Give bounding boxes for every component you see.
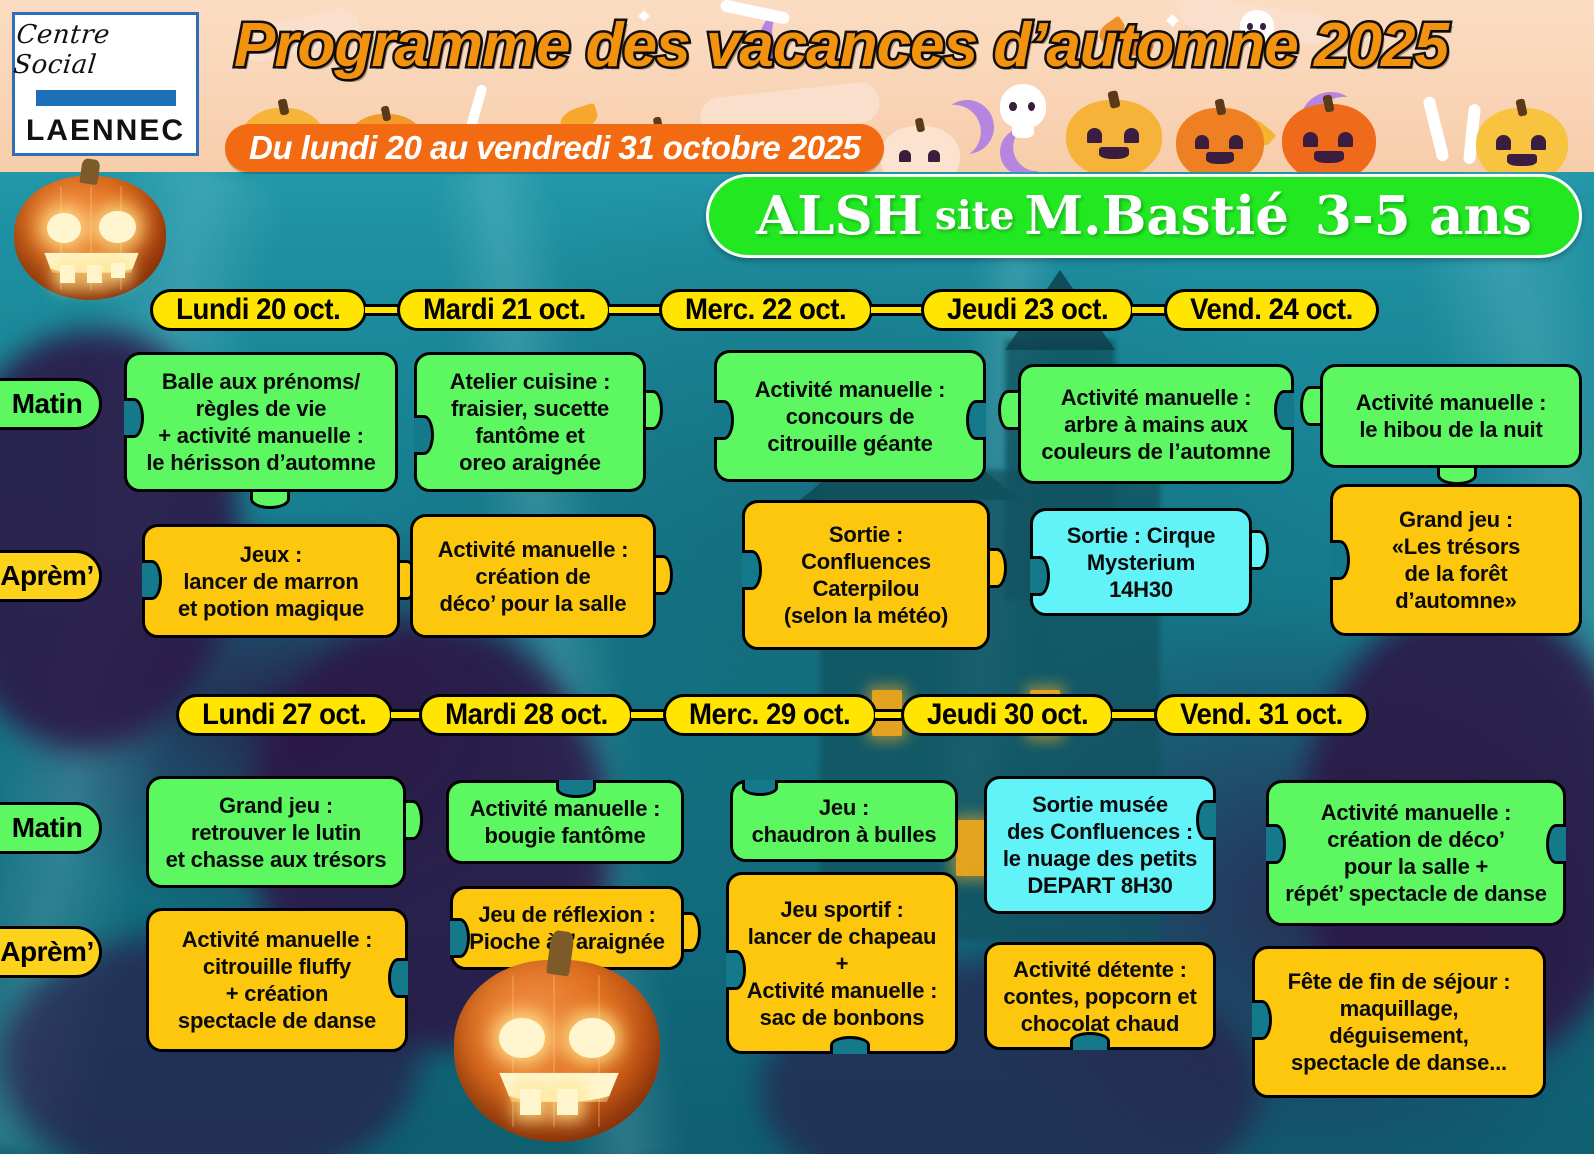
puzzle-notch bbox=[1330, 540, 1350, 580]
jack-o-lantern-photo-bottom bbox=[454, 960, 660, 1142]
row-label-text: Aprèm’ bbox=[0, 936, 93, 968]
day-header-merc-29[interactable]: Merc. 29 oct. bbox=[663, 694, 876, 736]
skull-decor bbox=[1000, 84, 1046, 128]
day-header-mardi-21[interactable]: Mardi 21 oct. bbox=[397, 289, 612, 331]
puzzle-notch bbox=[726, 950, 746, 990]
activity-card-lundi20-aprem[interactable]: Jeux : lancer de marron et potion magiqu… bbox=[142, 524, 400, 638]
day-label: Merc. 29 oct. bbox=[689, 698, 850, 732]
puzzle-notch bbox=[830, 1036, 870, 1054]
cartoon-pumpkin bbox=[1476, 108, 1568, 172]
cartoon-pumpkin bbox=[1176, 108, 1264, 172]
activity-card-jeudi30-matin[interactable]: Sortie musée des Confluences : le nuage … bbox=[984, 776, 1216, 914]
activity-card-merc29-aprem[interactable]: Jeu sportif : lancer de chapeau + Activi… bbox=[726, 872, 958, 1054]
activity-text: Sortie : Confluences Caterpilou (selon l… bbox=[784, 521, 948, 629]
puzzle-notch bbox=[742, 780, 778, 796]
activity-card-vend24-matin[interactable]: Activité manuelle : le hibou de la nuit bbox=[1320, 364, 1582, 468]
puzzle-notch bbox=[742, 550, 762, 590]
activity-text: Activité manuelle : création de déco’ po… bbox=[1285, 799, 1547, 907]
bone-decor bbox=[1422, 96, 1450, 163]
header-connector bbox=[875, 709, 903, 721]
row-label-matin-week1: Matin bbox=[0, 378, 102, 430]
cartoon-pumpkin bbox=[1282, 104, 1376, 172]
day-header-jeudi-30[interactable]: Jeudi 30 oct. bbox=[901, 694, 1114, 736]
day-header-lundi-20[interactable]: Lundi 20 oct. bbox=[150, 289, 367, 331]
activity-card-merc22-matin[interactable]: Activité manuelle : concours de citrouil… bbox=[714, 350, 986, 482]
header-connector bbox=[871, 304, 923, 316]
puzzle-knob bbox=[987, 548, 1007, 588]
day-label: Merc. 22 oct. bbox=[685, 293, 846, 327]
header-connector bbox=[631, 709, 665, 721]
activity-card-mardi21-aprem[interactable]: Activité manuelle : création de déco’ po… bbox=[410, 514, 656, 638]
row-label-text: Matin bbox=[12, 812, 83, 844]
activity-card-lundi27-aprem[interactable]: Activité manuelle : citrouille fluffy + … bbox=[146, 908, 408, 1052]
day-header-merc-22[interactable]: Merc. 22 oct. bbox=[659, 289, 872, 331]
row-label-aprem-week1: Aprèm’ bbox=[0, 550, 102, 602]
puzzle-notch bbox=[1252, 1000, 1272, 1040]
day-label: Mardi 28 oct. bbox=[445, 698, 608, 732]
activity-text: Activité manuelle : arbre à mains aux co… bbox=[1041, 384, 1270, 465]
day-label: Mardi 21 oct. bbox=[423, 293, 586, 327]
cartoon-pumpkin bbox=[880, 126, 960, 172]
activity-text: Jeu : chaudron à bulles bbox=[752, 794, 937, 848]
activity-card-vend24-aprem[interactable]: Grand jeu : «Les trésors de la forêt d’a… bbox=[1330, 484, 1582, 636]
day-header-jeudi-23[interactable]: Jeudi 23 oct. bbox=[921, 289, 1134, 331]
day-label: Vend. 31 oct. bbox=[1180, 698, 1343, 732]
alsh-age-range: 3-5 ans bbox=[1315, 185, 1532, 247]
puzzle-notch bbox=[1196, 800, 1216, 840]
day-header-mardi-28[interactable]: Mardi 28 oct. bbox=[419, 694, 634, 736]
activity-card-vend31-matin[interactable]: Activité manuelle : création de déco’ po… bbox=[1266, 780, 1566, 926]
puzzle-notch bbox=[714, 400, 734, 440]
puzzle-notch bbox=[1030, 556, 1050, 596]
puzzle-knob bbox=[1300, 386, 1320, 426]
jack-o-lantern-photo-topleft bbox=[14, 176, 166, 300]
page-title: Programme des vacances d’automne 2025 bbox=[234, 14, 1448, 78]
logo-script-text: Centre Social bbox=[12, 20, 199, 80]
activity-text: Sortie musée des Confluences : le nuage … bbox=[1003, 791, 1197, 899]
alsh-place: M.Bastié bbox=[1025, 185, 1289, 247]
activity-text: Fête de fin de séjour : maquillage, dégu… bbox=[1288, 968, 1511, 1076]
puzzle-notch bbox=[1274, 390, 1294, 430]
day-label: Jeudi 23 oct. bbox=[947, 293, 1108, 327]
day-header-vend-31[interactable]: Vend. 31 oct. bbox=[1154, 694, 1369, 736]
puzzle-notch bbox=[124, 398, 144, 438]
row-label-text: Aprèm’ bbox=[0, 560, 93, 592]
week-1-day-header-row: Lundi 20 oct. Mardi 21 oct. Merc. 22 oct… bbox=[150, 289, 1379, 331]
logo-blue-bar bbox=[36, 90, 176, 106]
activity-card-lundi20-matin[interactable]: Balle aux prénoms/ règles de vie + activ… bbox=[124, 352, 398, 492]
puzzle-notch bbox=[450, 918, 470, 958]
cartoon-pumpkin bbox=[1066, 100, 1162, 172]
puzzle-notch bbox=[1546, 824, 1566, 864]
header-connector bbox=[391, 709, 421, 721]
header-connector bbox=[1132, 304, 1166, 316]
date-range-text: Du lundi 20 au vendredi 31 octobre 2025 bbox=[249, 129, 860, 167]
day-header-lundi-27[interactable]: Lundi 27 oct. bbox=[176, 694, 393, 736]
day-label: Lundi 20 oct. bbox=[176, 293, 340, 327]
puzzle-notch bbox=[142, 560, 162, 600]
puzzle-knob bbox=[998, 390, 1018, 430]
day-label: Lundi 27 oct. bbox=[202, 698, 366, 732]
activity-card-vend31-aprem[interactable]: Fête de fin de séjour : maquillage, dégu… bbox=[1252, 946, 1546, 1098]
header-connector bbox=[1112, 709, 1156, 721]
puzzle-notch bbox=[1266, 824, 1286, 864]
puzzle-knob bbox=[1437, 465, 1477, 485]
activity-text: Activité détente : contes, popcorn et ch… bbox=[1003, 956, 1196, 1037]
activity-text: Activité manuelle : le hibou de la nuit bbox=[1356, 389, 1547, 443]
activity-text: Activité manuelle : bougie fantôme bbox=[470, 795, 661, 849]
header-connector bbox=[609, 304, 661, 316]
activity-text: Grand jeu : retrouver le lutin et chasse… bbox=[166, 792, 387, 873]
header-connector bbox=[365, 304, 399, 316]
activity-card-mardi21-matin[interactable]: Atelier cuisine : fraisier, sucette fant… bbox=[414, 352, 646, 492]
activity-text: Balle aux prénoms/ règles de vie + activ… bbox=[146, 368, 375, 476]
activity-card-merc22-aprem[interactable]: Sortie : Confluences Caterpilou (selon l… bbox=[742, 500, 990, 650]
puzzle-notch bbox=[556, 780, 596, 798]
day-label: Vend. 24 oct. bbox=[1190, 293, 1353, 327]
puzzle-knob bbox=[1249, 530, 1269, 570]
puzzle-knob bbox=[250, 489, 290, 509]
activity-card-jeudi23-matin[interactable]: Activité manuelle : arbre à mains aux co… bbox=[1018, 364, 1294, 484]
puzzle-knob bbox=[403, 800, 423, 840]
puzzle-notch bbox=[388, 958, 408, 998]
date-range-bar: Du lundi 20 au vendredi 31 octobre 2025 bbox=[225, 124, 884, 172]
day-label: Jeudi 30 oct. bbox=[927, 698, 1088, 732]
alsh-site-banner: ALSH site M.Bastié 3-5 ans bbox=[706, 174, 1582, 258]
puzzle-notch bbox=[1070, 1032, 1110, 1050]
activity-text: Jeux : lancer de marron et potion magiqu… bbox=[178, 541, 364, 622]
activity-text: Jeu sportif : lancer de chapeau + Activi… bbox=[747, 896, 938, 1031]
activity-text: Atelier cuisine : fraisier, sucette fant… bbox=[450, 368, 610, 476]
activity-text: Sortie : Cirque Mysterium 14H30 bbox=[1067, 522, 1216, 603]
activity-text: Activité manuelle : création de déco’ po… bbox=[438, 536, 629, 617]
alsh-label: ALSH bbox=[756, 185, 923, 247]
alsh-site-word: site bbox=[935, 193, 1015, 239]
week-2-day-header-row: Lundi 27 oct. Mardi 28 oct. Merc. 29 oct… bbox=[176, 694, 1369, 736]
day-header-vend-24[interactable]: Vend. 24 oct. bbox=[1164, 289, 1379, 331]
activity-text: Activité manuelle : concours de citrouil… bbox=[755, 376, 946, 457]
puzzle-notch bbox=[966, 400, 986, 440]
activity-text: Activité manuelle : citrouille fluffy + … bbox=[178, 926, 376, 1034]
activity-card-lundi27-matin[interactable]: Grand jeu : retrouver le lutin et chasse… bbox=[146, 776, 406, 888]
activity-card-jeudi23-aprem[interactable]: Sortie : Cirque Mysterium 14H30 bbox=[1030, 508, 1252, 616]
puzzle-knob bbox=[643, 390, 663, 430]
centre-social-laennec-logo: Centre Social LAENNEC bbox=[12, 12, 199, 156]
row-label-matin-week2: Matin bbox=[0, 802, 102, 854]
puzzle-notch bbox=[414, 415, 434, 455]
poster-root: Centre Social LAENNEC Programme des vaca… bbox=[0, 0, 1594, 1154]
puzzle-knob bbox=[681, 912, 701, 952]
puzzle-knob bbox=[653, 555, 673, 595]
row-label-aprem-week2: Aprèm’ bbox=[0, 926, 102, 978]
activity-text: Grand jeu : «Les trésors de la forêt d’a… bbox=[1392, 506, 1520, 614]
row-label-text: Matin bbox=[12, 388, 83, 420]
logo-name-text: LAENNEC bbox=[26, 114, 185, 148]
